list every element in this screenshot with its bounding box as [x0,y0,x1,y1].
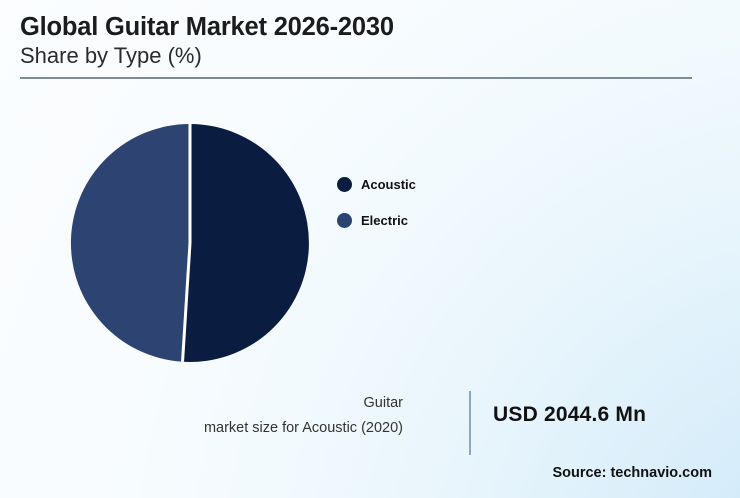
source-label: Source: technavio.com [552,465,712,481]
pie-chart [62,115,320,373]
pie-slice-acoustic[interactable] [183,124,309,362]
chart-legend: Acoustic Electric [337,170,537,242]
legend-label-electric: Electric [361,213,408,228]
stat-callout: Guitar market size for Acoustic (2020) U… [190,391,700,457]
pie-slice-electric[interactable] [71,124,190,362]
pie-chart-svg [62,115,320,373]
page-subtitle: Share by Type (%) [20,43,700,69]
legend-item-acoustic[interactable]: Acoustic [337,170,537,199]
stat-caption: Guitar market size for Acoustic (2020) [133,391,403,442]
legend-swatch-icon [337,177,352,192]
stat-caption-line-2: market size for Acoustic (2020) [133,416,403,441]
header-divider [20,77,692,79]
legend-label-acoustic: Acoustic [361,177,416,192]
chart-header: Global Guitar Market 2026-2030 Share by … [20,12,700,69]
page-title: Global Guitar Market 2026-2030 [20,12,700,42]
stat-divider [469,391,471,455]
stat-caption-line-1: Guitar [133,391,403,416]
infographic-canvas: Global Guitar Market 2026-2030 Share by … [0,0,740,498]
legend-swatch-icon [337,213,352,228]
stat-value: USD 2044.6 Mn [493,403,646,427]
legend-item-electric[interactable]: Electric [337,206,537,235]
